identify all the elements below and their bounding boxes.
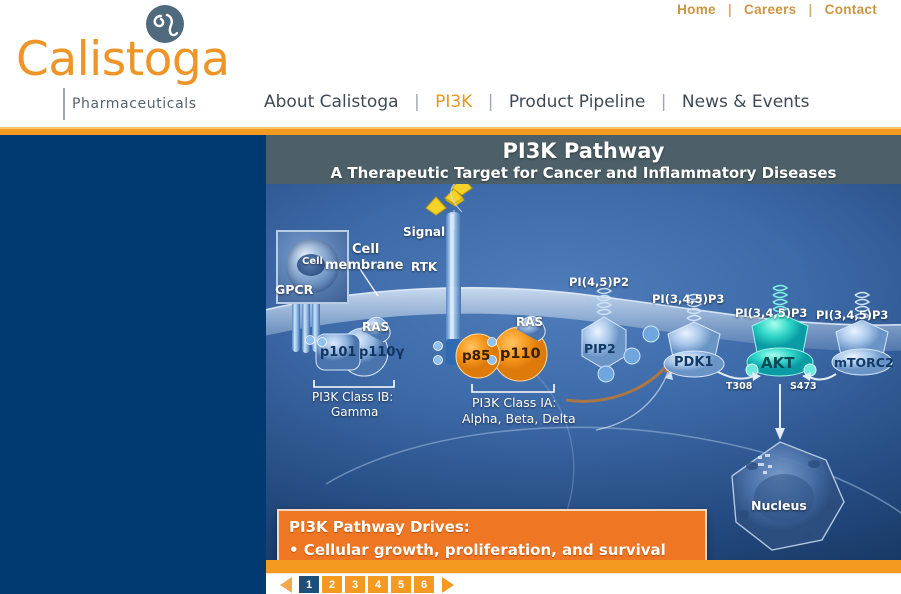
label-pip2: PIP2 [584,341,616,356]
brand-name: Calistoga [16,36,230,83]
page-root: Calistoga Pharmaceuticals Home | Careers… [0,0,901,594]
triangle-right-icon[interactable] [442,577,454,593]
pager-page-3[interactable]: 3 [345,576,365,593]
pathway-illustration: Cell Cell membrane Signal RTK GPCR RAS R… [266,184,901,560]
top-nav-separator-1: | [728,2,732,17]
label-class-ib-line2: Gamma [331,405,378,419]
brand-tagline: Pharmaceuticals [72,96,197,112]
pager-page-4[interactable]: 4 [368,576,388,593]
pager-page-5[interactable]: 5 [391,576,411,593]
callout-bullet-1: • Cellular growth, proliferation, and su… [289,539,695,560]
label-class-ib-line1: PI3K Class IB: [312,390,393,404]
pager-page-6[interactable]: 6 [414,576,434,593]
label-t308: T308 [726,381,752,392]
label-p85: p85 [462,348,490,364]
site-header: Calistoga Pharmaceuticals Home | Careers… [0,0,901,127]
header-accent-bar [0,127,901,135]
pathway-callout-box: PI3K Pathway Drives: • Cellular growth, … [277,509,707,560]
label-mtorc2: mTORC2 [834,355,894,370]
label-signal: Signal [403,225,445,239]
nav-item-news-events[interactable]: News & Events [682,92,810,112]
label-class-ia-line2: Alpha, Beta, Delta [462,411,576,426]
top-nav-careers[interactable]: Careers [744,2,796,17]
nav-separator-3: | [661,92,667,112]
triangle-left-icon[interactable] [280,577,292,593]
banner-pager: 1 2 3 4 5 6 [280,576,454,593]
brand-logo[interactable]: Calistoga Pharmaceuticals [14,2,264,122]
label-pi345p3-b: PI(3,4,5)P3 [735,306,807,320]
label-nucleus: Nucleus [751,498,807,513]
banner-title: PI3K Pathway [266,139,901,163]
label-p110: p110 [500,346,541,362]
utility-nav: Home | Careers | Contact [677,2,877,17]
label-rtk: RTK [411,260,437,274]
pager-page-2[interactable]: 2 [322,576,342,593]
label-pi45p2: PI(4,5)P2 [569,275,629,289]
label-pi345p3-c: PI(3,4,5)P3 [816,308,888,322]
banner-subtitle: A Therapeutic Target for Cancer and Infl… [266,164,901,182]
left-sidebar-panel [0,135,266,594]
pi3k-pathway-banner: PI3K Pathway A Therapeutic Target for Ca… [266,135,901,560]
label-cell-membrane-line2: membrane [325,258,403,273]
nav-item-product-pipeline[interactable]: Product Pipeline [509,92,645,112]
label-ras-left: RAS [362,320,389,334]
top-nav-home[interactable]: Home [677,2,716,17]
banner-pager-bar: 1 2 3 4 5 6 [266,573,901,594]
primary-nav: About Calistoga | PI3K | Product Pipelin… [264,92,809,112]
pager-page-1[interactable]: 1 [299,576,319,593]
label-cell-membrane-line1: Cell [352,242,379,257]
label-p110-gamma: p110γ [359,345,404,360]
logo-divider [63,88,65,120]
label-pdk1: PDK1 [674,355,713,370]
top-nav-separator-2: | [809,2,813,17]
callout-heading: PI3K Pathway Drives: [289,516,695,539]
label-class-ia-line1: PI3K Class IA: [472,395,556,410]
label-akt: AKT [761,354,794,372]
nav-separator-2: | [488,92,494,112]
label-gpcr: GPCR [275,282,313,297]
nav-item-about-calistoga[interactable]: About Calistoga [264,92,399,112]
top-nav-contact[interactable]: Contact [825,2,877,17]
nav-item-pi3k[interactable]: PI3K [435,92,472,112]
label-s473: S473 [790,381,817,392]
banner-bottom-accent [266,560,901,573]
label-ras-right: RAS [516,315,543,329]
nav-separator-1: | [414,92,420,112]
label-pi345p3-a: PI(3,4,5)P3 [652,292,724,306]
label-p101: p101 [320,345,356,360]
